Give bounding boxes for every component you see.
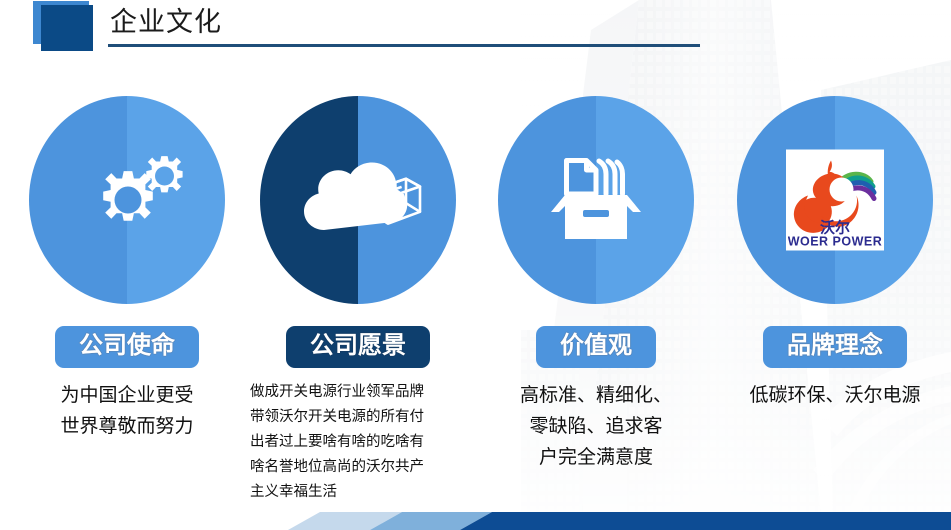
culture-column-vision: 公司愿景 做成开关电源行业领军品牌 带领沃尔开关电源的所有付 出者过上要啥有啥的… xyxy=(245,96,471,505)
cloud-building-icon xyxy=(260,96,456,304)
gears-icon xyxy=(29,96,225,304)
copy-line: 为中国企业更受 xyxy=(14,380,240,411)
copy-line: 出者过上要啥有啥的吃啥有 xyxy=(250,430,471,455)
slide-header: 企业文化 xyxy=(0,0,951,60)
badge-brand-philosophy: 品牌理念 xyxy=(763,326,907,368)
badge-company-vision: 公司愿景 xyxy=(286,326,430,368)
copy-company-vision: 做成开关电源行业领军品牌 带领沃尔开关电源的所有付 出者过上要啥有啥的吃啥有 啥… xyxy=(245,380,471,505)
badge-company-mission: 公司使命 xyxy=(55,326,199,368)
culture-column-values: 价值观 高标准、精细化、 零缺陷、追求客 户完全满意度 xyxy=(483,96,709,473)
badge-wrap: 公司使命 xyxy=(14,326,240,368)
badge-wrap: 价值观 xyxy=(483,326,709,368)
copy-line: 主义幸福生活 xyxy=(250,480,471,505)
archive-box-icon xyxy=(498,96,694,304)
circle-icon-archive-box xyxy=(498,96,694,304)
copy-company-mission: 为中国企业更受 世界尊敬而努力 xyxy=(14,380,240,442)
copy-line: 世界尊敬而努力 xyxy=(14,411,240,442)
badge-values: 价值观 xyxy=(536,326,656,368)
woer-power-logo: 沃尔 WOER POWER xyxy=(786,150,884,251)
copy-line: 做成开关电源行业领军品牌 xyxy=(250,380,471,405)
copy-values: 高标准、精细化、 零缺陷、追求客 户完全满意度 xyxy=(483,380,709,473)
footer-segment-dark xyxy=(460,512,951,530)
badge-wrap: 公司愿景 xyxy=(245,326,471,368)
copy-line: 啥名誉地位高尚的沃尔共产 xyxy=(250,455,471,480)
copy-line: 高标准、精细化、 xyxy=(483,380,709,411)
copy-line: 带领沃尔开关电源的所有付 xyxy=(250,405,471,430)
culture-column-brand: 沃尔 WOER POWER 品牌理念 低碳环保、沃尔电源 xyxy=(722,96,948,411)
logo-english-name: WOER POWER xyxy=(788,235,882,249)
header-accent-square-front xyxy=(41,5,93,51)
copy-line: 户完全满意度 xyxy=(483,442,709,473)
header-underline xyxy=(108,44,700,47)
copy-brand-philosophy: 低碳环保、沃尔电源 xyxy=(722,380,948,411)
badge-wrap: 品牌理念 xyxy=(722,326,948,368)
copy-line: 零缺陷、追求客 xyxy=(483,411,709,442)
copy-line: 低碳环保、沃尔电源 xyxy=(722,380,948,411)
circle-icon-gears xyxy=(29,96,225,304)
footer-band xyxy=(0,506,951,530)
culture-column-mission: 公司使命 为中国企业更受 世界尊敬而努力 xyxy=(14,96,240,442)
slide-root: 企业文化 公司使命 为中国企业更受 世界尊敬 xyxy=(0,0,951,530)
page-title: 企业文化 xyxy=(110,5,222,39)
circle-logo-woer: 沃尔 WOER POWER xyxy=(737,96,933,304)
circle-icon-cloud-building xyxy=(260,96,456,304)
